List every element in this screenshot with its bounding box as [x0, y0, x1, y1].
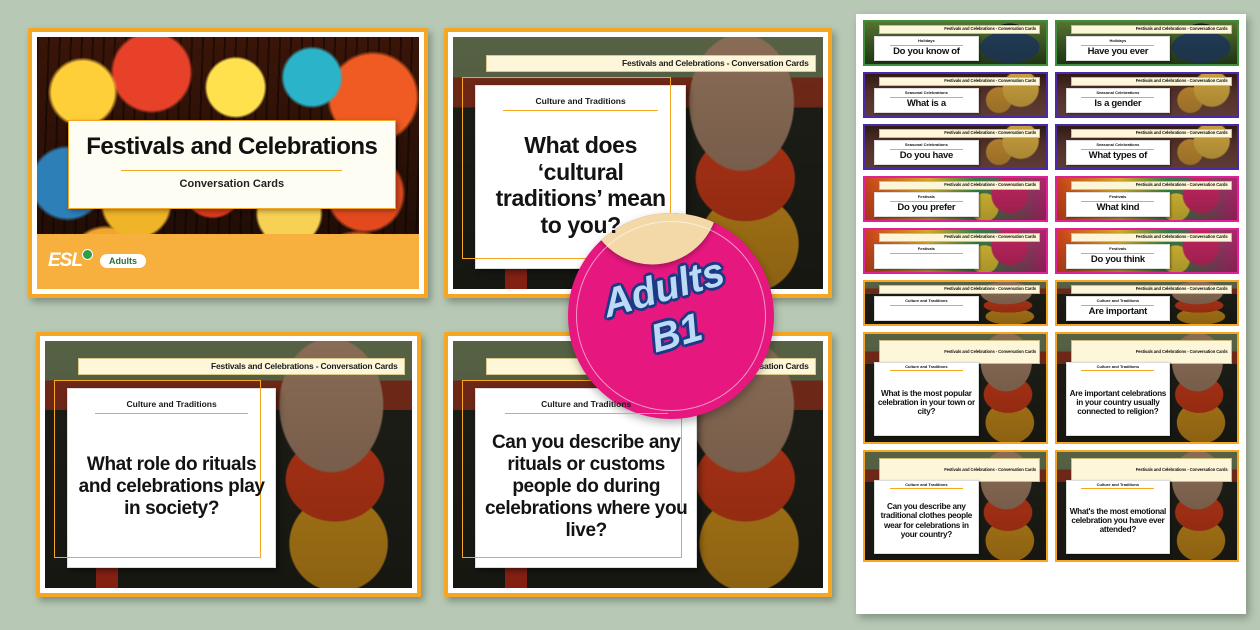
thumbnail-card[interactable]: Festivals and Celebrations - Conversatio… — [863, 176, 1048, 222]
question-box: Culture and Traditions What role do ritu… — [67, 388, 276, 568]
thumbnail-header-strip: Festivals and Celebrations - Conversatio… — [879, 77, 1040, 86]
thumbnail-question-box: Seasonal CelebrationsDo you have — [874, 140, 979, 165]
thumbnail-header-strip: Festivals and Celebrations - Conversatio… — [1071, 340, 1232, 364]
cover-footer: ESL Adults — [37, 234, 419, 289]
thumbnail-card[interactable]: Festivals and Celebrations - Conversatio… — [1055, 20, 1240, 66]
preview-card-2[interactable]: Festivals and Celebrations - Conversatio… — [36, 332, 421, 597]
thumbnail-header-strip: Festivals and Celebrations - Conversatio… — [879, 181, 1040, 190]
thumbnail-question-text: Are important celebrations in your count… — [1069, 371, 1168, 432]
thumbnail-question-text: What is a — [907, 98, 946, 111]
thumbnail-question-box: HolidaysDo you know of — [874, 36, 979, 61]
thumbnail-question-text: Do you know of — [893, 46, 960, 59]
cover-card[interactable]: Festivals and Celebrations Conversation … — [28, 28, 428, 298]
thumbnail-header-strip: Festivals and Celebrations - Conversatio… — [1071, 233, 1232, 242]
thumbnail-row: Festivals and Celebrations - Conversatio… — [863, 228, 1239, 274]
thumbnail-question-text: What is the most popular celebration in … — [877, 371, 976, 432]
thumbnail-header-strip: Festivals and Celebrations - Conversatio… — [1071, 129, 1232, 138]
thumbnail-row: Festivals and Celebrations - Conversatio… — [863, 124, 1239, 170]
cover-subtitle: Conversation Cards — [121, 170, 342, 190]
thumbnail-question-text: What kind — [1097, 202, 1140, 215]
thumbnail-question-box: Festivals — [874, 244, 979, 269]
thumbnail-question-box: Culture and TraditionsAre important cele… — [1066, 362, 1171, 435]
cover-title: Festivals and Celebrations — [79, 133, 386, 161]
thumbnail-card[interactable]: Festivals and Celebrations - Conversatio… — [1055, 72, 1240, 118]
thumbnail-question-box: Culture and TraditionsCan you describe a… — [874, 480, 979, 553]
thumbnail-question-box: HolidaysHave you ever — [1066, 36, 1171, 61]
preview-card-1-inner: Festivals and Celebrations - Conversatio… — [453, 37, 823, 289]
thumbnail-header-strip: Festivals and Celebrations - Conversatio… — [879, 233, 1040, 242]
thumbnail-category: Festivals — [890, 247, 963, 253]
thumbnail-question-box: Culture and TraditionsWhat is the most p… — [874, 362, 979, 435]
thumbnail-question-text: Do you prefer — [897, 202, 955, 215]
thumbnail-card[interactable]: Festivals and Celebrations - Conversatio… — [863, 72, 1048, 118]
thumbnail-question-box: Seasonal CelebrationsWhat types of — [1066, 140, 1171, 165]
cover-title-box: Festivals and Celebrations Conversation … — [68, 120, 397, 209]
question-category: Culture and Traditions — [505, 399, 668, 414]
thumbnail-row: Festivals and Celebrations - Conversatio… — [863, 176, 1239, 222]
thumbnail-question-text: Do you think — [1091, 254, 1145, 267]
cover-card-inner: Festivals and Celebrations Conversation … — [37, 37, 419, 289]
thumbnail-card[interactable]: Festivals and Celebrations - Conversatio… — [863, 332, 1048, 444]
thumbnail-question-box: FestivalsDo you think — [1066, 244, 1171, 269]
thumbnail-card[interactable]: Festivals and Celebrations - Conversatio… — [1055, 124, 1240, 170]
thumbnail-card[interactable]: Festivals and Celebrations - Conversatio… — [863, 280, 1048, 326]
preview-card-2-inner: Festivals and Celebrations - Conversatio… — [45, 341, 412, 588]
thumbnail-question-box: FestivalsDo you prefer — [874, 192, 979, 217]
thumbnail-card[interactable]: Festivals and Celebrations - Conversatio… — [863, 450, 1048, 562]
thumbnail-header-strip: Festivals and Celebrations - Conversatio… — [879, 285, 1040, 294]
thumbnail-header-strip: Festivals and Celebrations - Conversatio… — [879, 340, 1040, 364]
card-header-strip: Festivals and Celebrations - Conversatio… — [78, 358, 405, 375]
thumbnail-header-strip: Festivals and Celebrations - Conversatio… — [879, 129, 1040, 138]
thumbnail-question-text: Do you have — [900, 150, 953, 163]
esl-logo: ESL — [48, 250, 93, 272]
thumbnail-card[interactable]: Festivals and Celebrations - Conversatio… — [1055, 332, 1240, 444]
thumbnail-card[interactable]: Festivals and Celebrations - Conversatio… — [1055, 176, 1240, 222]
thumbnail-question-box: Culture and Traditions — [874, 296, 979, 321]
question-category: Culture and Traditions — [503, 96, 657, 111]
thumbnail-category: Culture and Traditions — [890, 299, 963, 305]
thumbnail-question-text: Is a gender — [1094, 98, 1141, 111]
question-text: What does ‘cultural traditions’ mean to … — [484, 111, 677, 260]
thumbnail-question-box: Seasonal CelebrationsWhat is a — [874, 88, 979, 113]
thumbnail-card[interactable]: Festivals and Celebrations - Conversatio… — [863, 124, 1048, 170]
thumbnail-question-text: Are important — [1089, 306, 1147, 319]
thumbnail-header-strip: Festivals and Celebrations - Conversatio… — [1071, 458, 1232, 482]
thumbnail-header-strip: Festivals and Celebrations - Conversatio… — [1071, 285, 1232, 294]
thumbnail-card[interactable]: Festivals and Celebrations - Conversatio… — [863, 20, 1048, 66]
thumbnail-card[interactable]: Festivals and Celebrations - Conversatio… — [1055, 280, 1240, 326]
thumbnail-question-box: FestivalsWhat kind — [1066, 192, 1171, 217]
thumbnail-card[interactable]: Festivals and Celebrations - Conversatio… — [1055, 228, 1240, 274]
thumbnail-header-strip: Festivals and Celebrations - Conversatio… — [879, 25, 1040, 34]
thumbnail-question-text: What types of — [1089, 150, 1147, 163]
audience-pill: Adults — [100, 254, 146, 268]
thumbnail-question-text: What's the most emotional celebration yo… — [1069, 489, 1168, 550]
thumbnail-question-text: Have you ever — [1088, 46, 1149, 59]
thumbnail-row: Festivals and Celebrations - Conversatio… — [863, 72, 1239, 118]
thumbnail-header-strip: Festivals and Celebrations - Conversatio… — [1071, 181, 1232, 190]
thumbnail-header-strip: Festivals and Celebrations - Conversatio… — [1071, 25, 1232, 34]
preview-card-1[interactable]: Festivals and Celebrations - Conversatio… — [444, 28, 832, 298]
card-header-strip: Festivals and Celebrations - Conversatio… — [486, 55, 815, 72]
thumbnail-question-box: Culture and TraditionsAre important — [1066, 296, 1171, 321]
esl-logo-text: ESL — [48, 250, 82, 271]
thumbnail-question-text: Can you describe any traditional clothes… — [877, 489, 976, 550]
thumbnail-row: Festivals and Celebrations - Conversatio… — [863, 20, 1239, 66]
question-box: Culture and Traditions What does ‘cultur… — [475, 85, 686, 269]
thumbnail-question-box: Culture and TraditionsWhat's the most em… — [1066, 480, 1171, 553]
thumbnail-sheet[interactable]: Festivals and Celebrations - Conversatio… — [856, 14, 1246, 614]
thumbnail-row: Festivals and Celebrations - Conversatio… — [863, 332, 1239, 444]
thumbnail-row: Festivals and Celebrations - Conversatio… — [863, 450, 1239, 562]
question-text: Can you describe any rituals or customs … — [484, 414, 688, 559]
thumbnail-row: Festivals and Celebrations - Conversatio… — [863, 280, 1239, 326]
thumbnail-card[interactable]: Festivals and Celebrations - Conversatio… — [863, 228, 1048, 274]
question-category: Culture and Traditions — [95, 399, 248, 414]
screenshot-stage: Festivals and Celebrations Conversation … — [0, 0, 1260, 630]
question-text: What role do rituals and celebrations pl… — [76, 414, 267, 559]
thumbnail-header-strip: Festivals and Celebrations - Conversatio… — [1071, 77, 1232, 86]
thumbnail-question-box: Seasonal CelebrationsIs a gender — [1066, 88, 1171, 113]
thumbnail-header-strip: Festivals and Celebrations - Conversatio… — [879, 458, 1040, 482]
thumbnail-card[interactable]: Festivals and Celebrations - Conversatio… — [1055, 450, 1240, 562]
globe-icon — [82, 249, 93, 260]
question-box: Culture and Traditions Can you describe … — [475, 388, 697, 568]
